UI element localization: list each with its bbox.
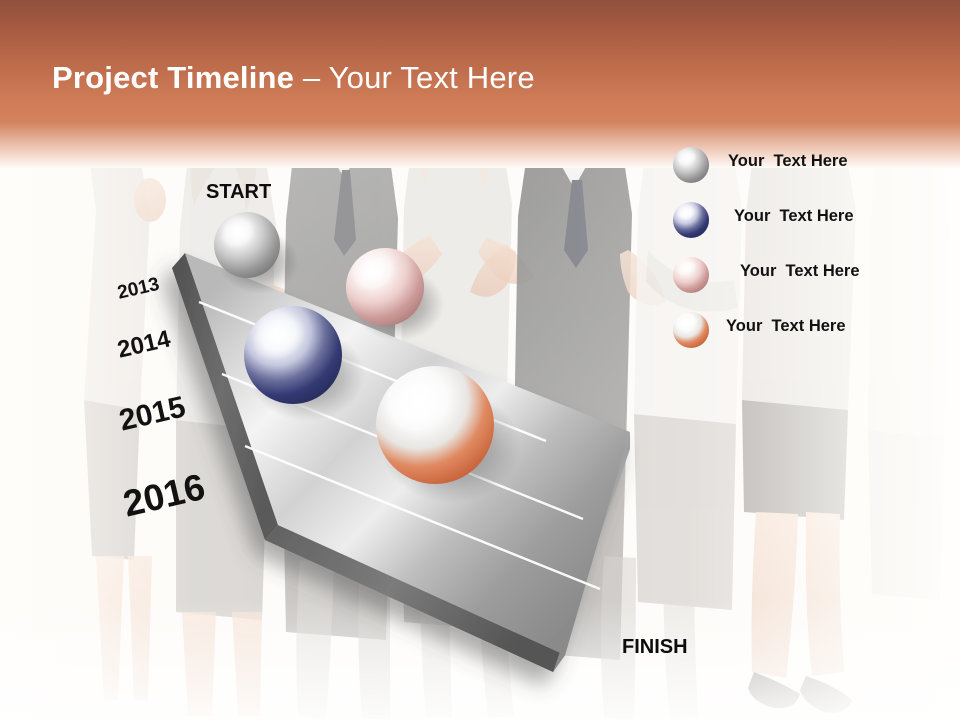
legend-label-4: Your Text Here [726,317,846,336]
legend-item-1[interactable]: Your Text Here [672,140,952,195]
legend-bullet-orange-sphere-icon [672,311,710,349]
legend-bullet-gray-sphere-icon [672,146,710,184]
navy-sphere-marker[interactable] [244,306,342,404]
timeline-arrow-board [0,0,960,720]
legend-label-1: Your Text Here [728,152,848,171]
finish-label: FINISH [622,636,688,659]
start-sphere-marker[interactable] [214,212,280,278]
start-label: START [206,181,271,204]
rose-sphere-marker[interactable] [346,247,424,326]
legend: Your Text Here Your Text Here Your Text … [672,140,952,360]
legend-bullet-navy-sphere-icon [672,201,710,239]
legend-item-4[interactable]: Your Text Here [672,305,952,360]
legend-label-3: Your Text Here [740,262,860,281]
legend-bullet-rose-sphere-icon [672,256,710,294]
legend-item-2[interactable]: Your Text Here [672,195,952,250]
presentation-slide: Project Timeline – Your Text Here [0,0,960,720]
legend-item-3[interactable]: Your Text Here [672,250,952,305]
legend-label-2: Your Text Here [734,207,854,226]
